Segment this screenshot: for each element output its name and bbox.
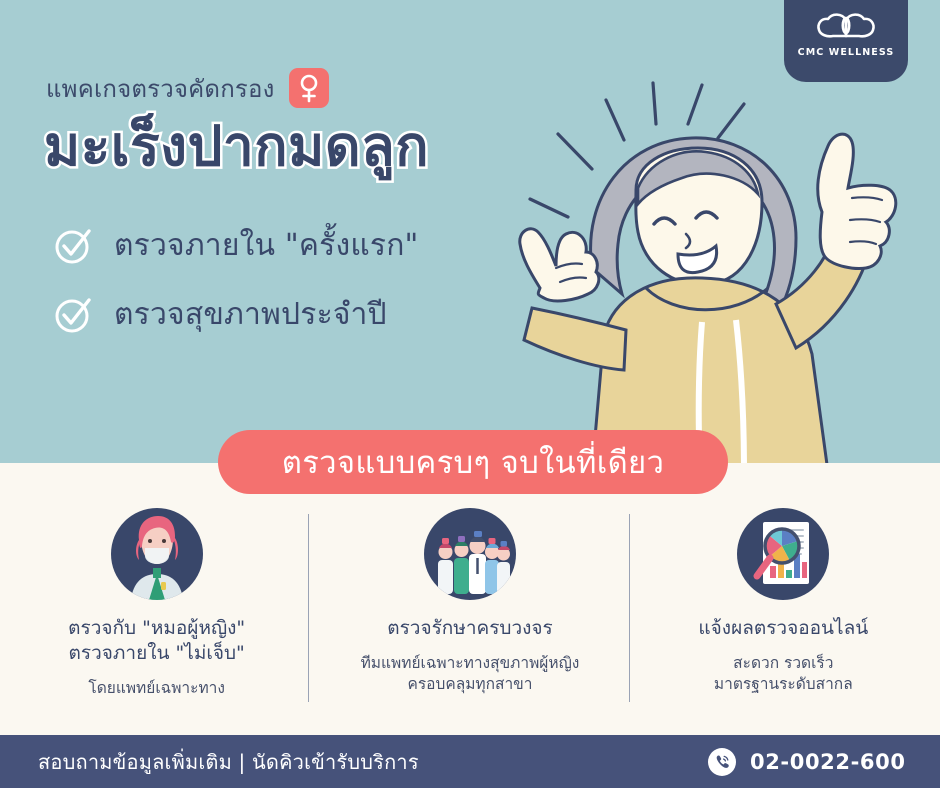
eyebrow-text: แพคเกจตรวจคัดกรอง xyxy=(46,69,275,108)
feature-item-medical-team: ตรวจรักษาครบวงจร ทีมแพทย์เฉพาะทางสุขภาพผ… xyxy=(313,500,626,715)
feature-item-online-results: แจ้งผลตรวจออนไลน์ สะดวก รวดเร็ว มาตรฐานร… xyxy=(627,500,940,715)
check-circle-icon xyxy=(52,294,94,336)
feature-divider-1 xyxy=(308,514,309,702)
brand-logo: CMC WELLNESS xyxy=(784,0,908,82)
page-title: มะเร็งปากมดลูก xyxy=(44,118,429,176)
feature-subtitle: สะดวก รวดเร็ว มาตรฐานระดับสากล xyxy=(714,653,853,695)
feature-subtitle-line-2: มาตรฐานระดับสากล xyxy=(714,674,853,695)
feature-title-line-2: ตรวจภายใน "ไม่เจ็บ" xyxy=(68,641,245,666)
feature-title: ตรวจกับ "หมอผู้หญิง" ตรวจภายใน "ไม่เจ็บ" xyxy=(68,616,245,666)
check-circle-icon xyxy=(52,225,94,267)
woman-thumbs-up-illustration xyxy=(496,72,940,463)
logo-text: CMC WELLNESS xyxy=(798,47,895,58)
feature-subtitle-line-2: ครอบคลุมทุกสาขา xyxy=(361,674,580,695)
feature-title: ตรวจรักษาครบวงจร xyxy=(387,616,553,641)
phone-ringing-icon xyxy=(708,748,736,776)
hero-section: CMC WELLNESS แพคเกจตรวจคัดกรอง มะเร็งปาก… xyxy=(0,0,940,463)
feature-subtitle-line-1: ทีมแพทย์เฉพาะทางสุขภาพผู้หญิง xyxy=(361,653,580,674)
list-item-label: ตรวจสุขภาพประจำปี xyxy=(114,291,387,338)
footer-phone-number[interactable]: 02-0022-600 xyxy=(750,750,906,774)
feature-item-female-doctor: ตรวจกับ "หมอผู้หญิง" ตรวจภายใน "ไม่เจ็บ"… xyxy=(0,500,313,715)
report-chart-magnifier-icon xyxy=(737,508,829,600)
poster-root: CMC WELLNESS แพคเกจตรวจคัดกรอง มะเร็งปาก… xyxy=(0,0,940,788)
feature-title-line-1: แจ้งผลตรวจออนไลน์ xyxy=(698,616,868,641)
list-item: ตรวจภายใน "ครั้งแรก" xyxy=(52,222,419,269)
highlight-banner: ตรวจแบบครบๆ จบในที่เดียว xyxy=(218,430,728,494)
feature-title: แจ้งผลตรวจออนไลน์ xyxy=(698,616,868,641)
eyebrow-row: แพคเกจตรวจคัดกรอง xyxy=(46,68,329,108)
highlight-banner-text: ตรวจแบบครบๆ จบในที่เดียว xyxy=(282,437,664,487)
venus-female-symbol-icon xyxy=(289,68,329,108)
feature-divider-2 xyxy=(629,514,630,702)
medical-team-icon xyxy=(424,508,516,600)
feature-subtitle-line-1: สะดวก รวดเร็ว xyxy=(714,653,853,674)
footer-contact-text: สอบถามข้อมูลเพิ่มเติม | นัดคิวเข้ารับบริ… xyxy=(38,746,419,778)
feature-subtitle-line-1: โดยแพทย์เฉพาะทาง xyxy=(88,678,225,699)
cloud-butterfly-mark xyxy=(815,12,877,42)
feature-title-line-1: ตรวจกับ "หมอผู้หญิง" xyxy=(68,616,245,641)
hero-bullet-list: ตรวจภายใน "ครั้งแรก" ตรวจสุขภาพประจำปี xyxy=(52,222,419,338)
list-item-label: ตรวจภายใน "ครั้งแรก" xyxy=(114,222,419,269)
features-section: ตรวจกับ "หมอผู้หญิง" ตรวจภายใน "ไม่เจ็บ"… xyxy=(0,500,940,715)
footer-bar: สอบถามข้อมูลเพิ่มเติม | นัดคิวเข้ารับบริ… xyxy=(0,735,940,788)
feature-subtitle: ทีมแพทย์เฉพาะทางสุขภาพผู้หญิง ครอบคลุมทุ… xyxy=(361,653,580,695)
feature-title-line-1: ตรวจรักษาครบวงจร xyxy=(387,616,553,641)
footer-phone-group[interactable]: 02-0022-600 xyxy=(708,748,906,776)
feature-subtitle: โดยแพทย์เฉพาะทาง xyxy=(88,678,225,699)
list-item: ตรวจสุขภาพประจำปี xyxy=(52,291,419,338)
female-doctor-icon xyxy=(111,508,203,600)
